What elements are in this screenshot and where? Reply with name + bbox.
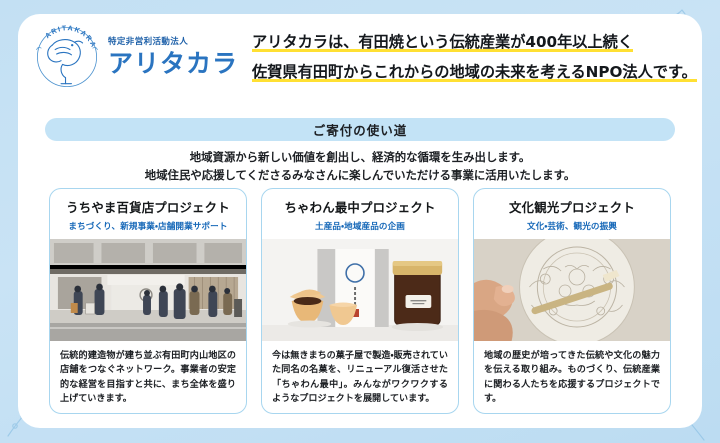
card-header: 文化観光プロジェクト 文化・芸術、観光の振興 [474, 189, 670, 239]
project-card-culture-tourism[interactable]: 文化観光プロジェクト 文化・芸術、観光の振興 [473, 188, 671, 414]
content-panel: ARITAKARA [18, 14, 702, 428]
card-body: 伝統的建造物が建ち並ぶ有田町内山地区の店舗をつなぐネットワーク。事業者の安定的な… [50, 341, 246, 410]
card-header: ちゃわん最中プロジェクト 土産品・地域産品の企画 [262, 189, 458, 239]
brand-text-block: 特定非営利活動法人 アリタカラ [108, 38, 238, 77]
project-card-uchiyama[interactable]: うちやま百貨店プロジェクト まちづくり、新規事業・店舗開業サポート [49, 188, 247, 414]
aritakara-emblem-icon: ARITAKARA [30, 20, 104, 94]
project-card-chawan-monaka[interactable]: ちゃわん最中プロジェクト 土産品・地域産品の企画 [261, 188, 459, 414]
card-description: 伝統的建造物が建ち並ぶ有田町内山地区の店舗をつなぐネットワーク。事業者の安定的な… [60, 349, 236, 406]
card-title: 文化観光プロジェクト [480, 198, 664, 216]
brand-name: アリタカラ [108, 51, 238, 76]
card-photo-monaka-product [262, 239, 458, 341]
card-photo-porcelain-painting [474, 239, 670, 341]
card-body: 今は無きまちの菓子屋で製造・販売されていた同名の名菓を、リニューアル復活させた「… [262, 341, 458, 410]
lead-paragraph: 地域資源から新しい価値を創出し、経済的な循環を生み出します。 地域住民や応援して… [18, 148, 702, 185]
project-card-list: うちやま百貨店プロジェクト まちづくり、新規事業・店舗開業サポート [49, 188, 671, 414]
lead-line-1: 地域資源から新しい価値を創出し、経済的な循環を生み出します。 [18, 148, 702, 166]
card-subtitle: 土産品・地域産品の企画 [268, 220, 452, 232]
brand-kicker: 特定非営利活動法人 [108, 38, 238, 47]
lead-line-2: 地域住民や応援してくださるみなさんに楽しんでいただける事業に活用いたします。 [18, 166, 702, 184]
page-header: ARITAKARA [18, 14, 702, 100]
card-description: 地域の歴史が培ってきた伝統や文化の魅力を伝える取り組み。ものづくり、伝統産業に関… [484, 349, 660, 406]
card-description: 今は無きまちの菓子屋で製造・販売されていた同名の名菓を、リニューアル復活させた「… [272, 349, 448, 406]
headline-line-2: 佐賀県有田町からこれからの地域の未来を考えるNPO法人です。 [252, 65, 697, 82]
headline-block: アリタカラは、有田焼という伝統産業が400年以上続く 佐賀県有田町からこれからの… [252, 32, 711, 82]
brand-lockup: ARITAKARA [30, 20, 248, 94]
section-heading-pill: ご寄付の使い道 [45, 118, 675, 141]
card-header: うちやま百貨店プロジェクト まちづくり、新規事業・店舗開業サポート [50, 189, 246, 239]
card-body: 地域の歴史が培ってきた伝統や文化の魅力を伝える取り組み。ものづくり、伝統産業に関… [474, 341, 670, 410]
section-heading-label: ご寄付の使い道 [313, 120, 408, 139]
headline-line-1: アリタカラは、有田焼という伝統産業が400年以上続く [252, 35, 633, 52]
headline-row: アリタカラは、有田焼という伝統産業が400年以上続く [252, 32, 697, 52]
card-subtitle: まちづくり、新規事業・店舗開業サポート [56, 220, 240, 232]
svg-text:ARITAKARA: ARITAKARA [44, 25, 97, 49]
card-photo-storefront [50, 239, 246, 341]
card-title: ちゃわん最中プロジェクト [268, 198, 452, 216]
card-subtitle: 文化・芸術、観光の振興 [480, 220, 664, 232]
card-title: うちやま百貨店プロジェクト [56, 198, 240, 216]
headline-row: 佐賀県有田町からこれからの地域の未来を考えるNPO法人です。 [252, 62, 697, 82]
